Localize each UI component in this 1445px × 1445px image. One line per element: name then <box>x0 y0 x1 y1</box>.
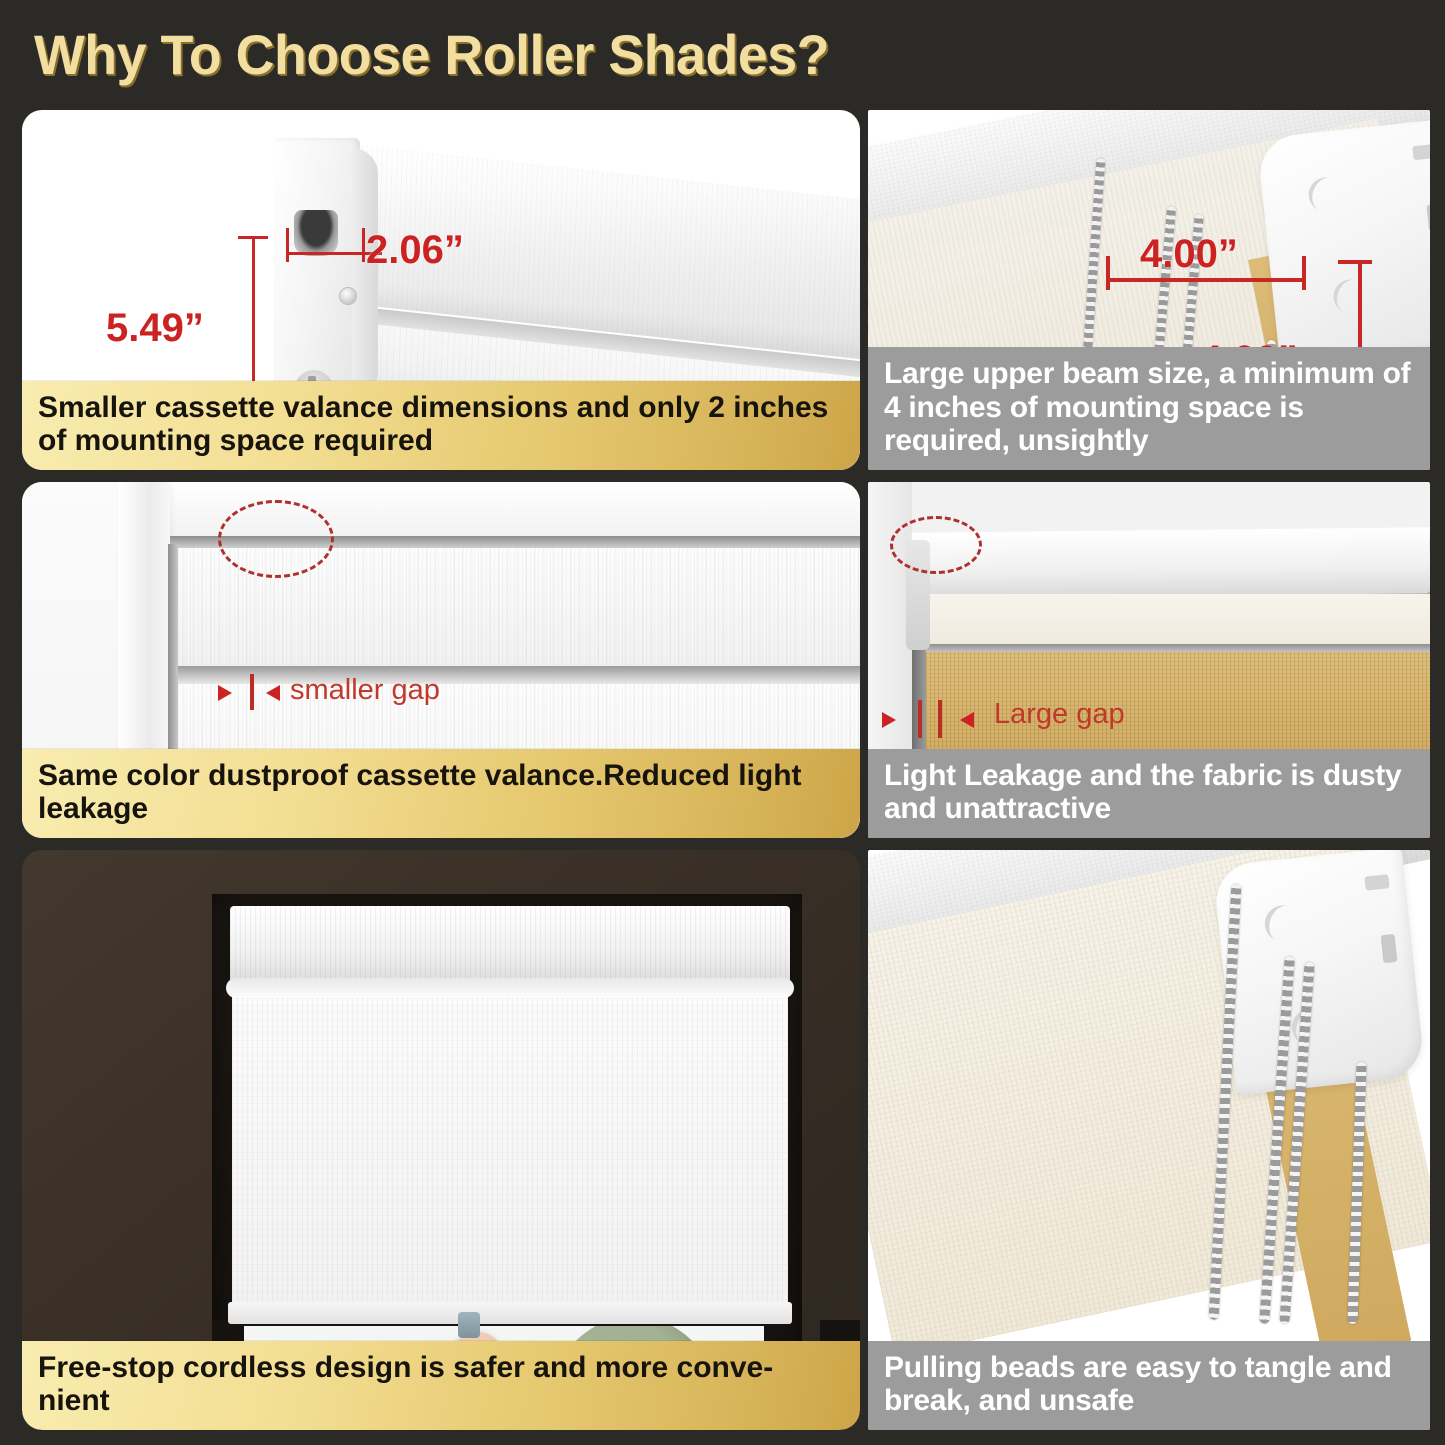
gap-marker-b <box>938 700 942 738</box>
comparison-grid: 2.06” 5.49” Smaller cassette valance dim… <box>0 104 1445 1445</box>
roller-shade-fabric <box>232 996 788 1314</box>
bracket-tab-upper <box>1364 874 1389 890</box>
dim-width-label: 2.06” <box>366 228 464 273</box>
beam-width-tick-left <box>1106 256 1110 290</box>
panel-large-upper-beam[interactable]: 4.00” 4.00” Large upper beam size, a min… <box>868 110 1430 470</box>
shade-bottom-rail <box>228 1302 792 1324</box>
beam-width-tick-right <box>1302 256 1306 290</box>
panel-smaller-cassette[interactable]: 2.06” 5.49” Smaller cassette valance dim… <box>22 110 860 470</box>
gap-label: Large gap <box>994 698 1125 731</box>
caption-panel-2: Large upper beam size, a minimum of 4 in… <box>868 347 1430 470</box>
beam-width-line <box>1106 278 1306 282</box>
caption-panel-3: Same color dustproof cassette valance.Re… <box>22 749 860 838</box>
bracket-tab-upper <box>1412 144 1430 160</box>
caption-panel-4: Light Leakage and the fabric is dusty an… <box>868 749 1430 838</box>
bracket-tab-lower <box>1381 934 1398 963</box>
cassette-lip <box>226 978 794 998</box>
gap-arrow-right <box>960 712 974 728</box>
gap-marker <box>250 674 254 710</box>
bracket-tab-lower <box>1426 204 1430 231</box>
highlight-circle <box>218 500 334 578</box>
competitor-valance-lower <box>912 594 1430 646</box>
panel-dustproof-valance[interactable]: smaller gap Same color dustproof cassett… <box>22 482 860 838</box>
dim-width-tick-left <box>286 228 289 262</box>
bracket-emboss-icon-2 <box>1329 275 1372 318</box>
mounting-bracket <box>1256 119 1430 368</box>
caption-panel-5: Free-stop cordless design is safer and m… <box>22 1341 860 1430</box>
dim-height-label: 5.49” <box>106 306 204 351</box>
bracket-emboss-icon <box>1304 173 1347 216</box>
page-title: Why To Choose Roller Shades? <box>34 22 829 87</box>
competitor-bottom-edge <box>912 644 1430 652</box>
dim-height-tick-top <box>238 236 268 239</box>
infographic-root: Why To Choose Roller Shades? 2.06” <box>0 0 1445 1445</box>
bracket-slot-upper <box>294 210 338 256</box>
mounting-bracket <box>1212 850 1425 1095</box>
highlight-circle <box>890 516 982 574</box>
gap-arrow-left <box>882 712 896 728</box>
caption-line-1: Free-stop cordless design is safer and m… <box>38 1351 846 1385</box>
caption-panel-1: Smaller cassette valance dimensions and … <box>22 381 860 470</box>
caption-panel-6: Pulling beads are easy to tangle and bre… <box>868 1341 1430 1430</box>
bracket-screw <box>340 288 356 304</box>
gap-label: smaller gap <box>290 674 440 707</box>
pull-tab <box>458 1312 480 1338</box>
shade-mid-rail <box>174 666 860 684</box>
competitor-valance <box>912 527 1430 598</box>
gap-arrow-right <box>266 685 280 701</box>
gap-marker-a <box>918 700 922 738</box>
dim-width-tick-right <box>362 228 365 262</box>
beam-width-label: 4.00” <box>1140 232 1238 277</box>
caption-line-2: nient <box>38 1384 846 1418</box>
panel-light-leakage[interactable]: Large gap Light Leakage and the fabric i… <box>868 482 1430 838</box>
gap-arrow-left <box>218 685 232 701</box>
panel-cordless-design[interactable]: Free-stop cordless design is safer and m… <box>22 850 860 1430</box>
panel-pulling-beads[interactable]: Pulling beads are easy to tangle and bre… <box>868 850 1430 1430</box>
bracket-emboss-icon <box>1260 901 1306 947</box>
beam-height-tick-top <box>1338 260 1372 264</box>
cassette-headrail <box>230 906 790 984</box>
